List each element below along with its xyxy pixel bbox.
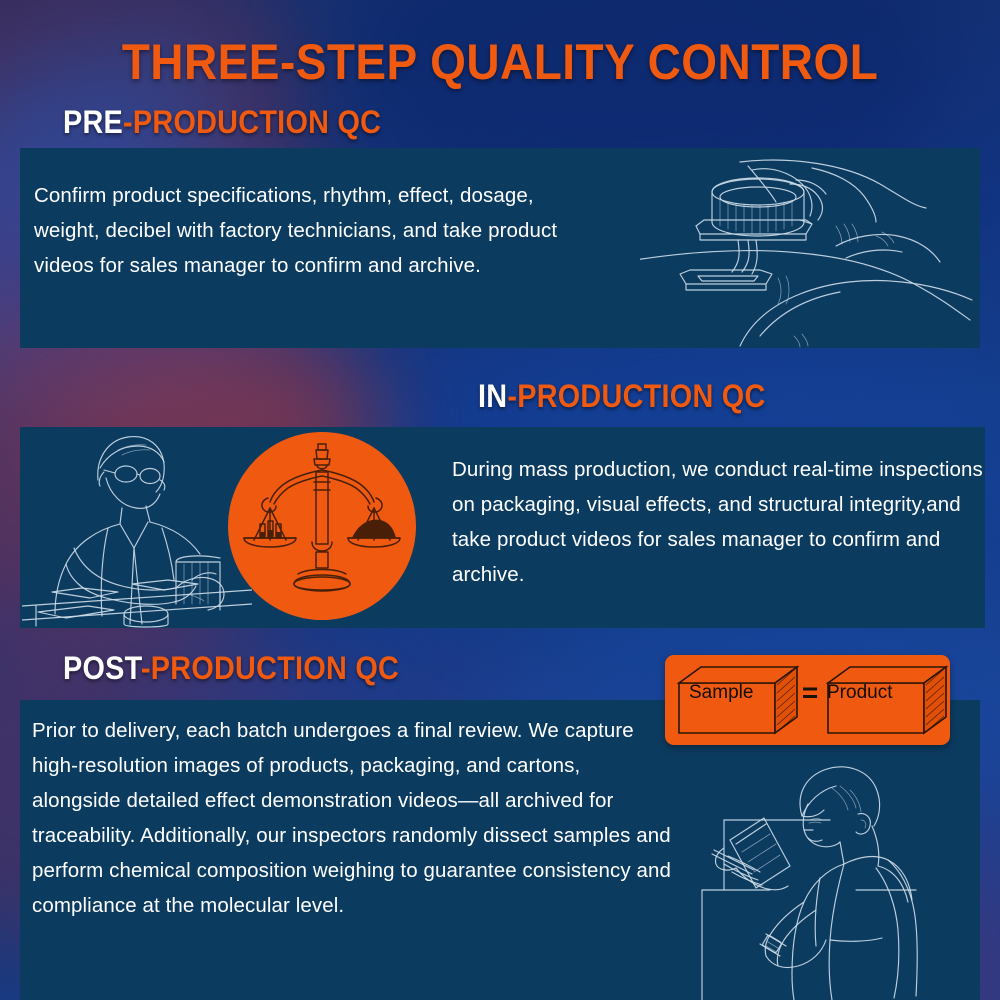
step-2-heading-white: IN — [478, 378, 507, 414]
step-2-body-text: During mass production, we conduct real-… — [452, 452, 992, 592]
step-2-heading-orange: -PRODUCTION QC — [507, 378, 765, 414]
step-1-heading-orange: -PRODUCTION QC — [123, 104, 381, 140]
sample-equals-product-badge: Sample = Product — [665, 655, 950, 745]
infographic-canvas: THREE-STEP QUALITY CONTROL PRE-PRODUCTIO… — [0, 0, 1000, 1000]
page-title: THREE-STEP QUALITY CONTROL — [40, 33, 960, 91]
step-3-heading-orange: -PRODUCTION QC — [141, 650, 399, 686]
step-1-heading-white: PRE — [63, 104, 123, 140]
balance-scale-icon — [228, 432, 416, 620]
step-3-heading: POST-PRODUCTION QC — [63, 650, 399, 687]
step-1-heading: PRE-PRODUCTION QC — [63, 104, 381, 141]
equals-sign: = — [798, 677, 822, 709]
step-3-heading-white: POST — [63, 650, 141, 686]
step-2-heading: IN-PRODUCTION QC — [478, 378, 766, 415]
step-3-body-text: Prior to delivery, each batch undergoes … — [32, 713, 672, 923]
step-1-body-text: Confirm product specifications, rhythm, … — [34, 178, 594, 283]
sample-label: Sample — [689, 682, 753, 704]
product-label: Product — [827, 682, 892, 704]
